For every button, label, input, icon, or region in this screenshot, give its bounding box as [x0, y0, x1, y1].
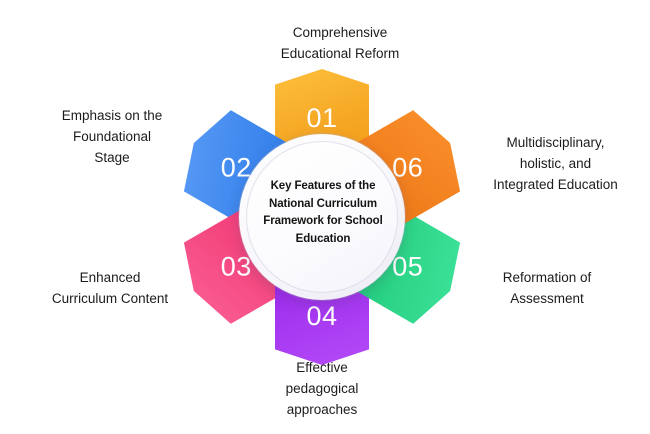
center-title-line-3: Framework for School [252, 213, 394, 231]
label-03-line-2: Curriculum Content [18, 288, 202, 309]
center-title-line-1: Key Features of the [252, 178, 394, 196]
label-petal-02: Emphasis on the Foundational Stage [22, 105, 202, 168]
label-03-line-1: Enhanced [18, 267, 202, 288]
center-title-line-4: Education [252, 231, 394, 249]
label-petal-04: Effective pedagogical approaches [252, 357, 392, 420]
label-04-line-3: approaches [252, 399, 392, 420]
center-hub-title: Key Features of the National Curriculum … [252, 178, 394, 248]
center-title-line-2: National Curriculum [252, 196, 394, 214]
label-01-line-1: Comprehensive [245, 22, 435, 43]
label-02-line-3: Stage [22, 147, 202, 168]
label-02-line-2: Foundational [22, 126, 202, 147]
label-04-line-1: Effective [252, 357, 392, 378]
infographic-canvas: 01 02 03 04 05 06 Key Features of the Na… [0, 0, 650, 434]
label-petal-06: Multidisciplinary, holistic, and Integra… [468, 132, 643, 195]
label-petal-03: Enhanced Curriculum Content [18, 267, 202, 309]
label-petal-01: Comprehensive Educational Reform [245, 22, 435, 64]
label-06-line-3: Integrated Education [468, 174, 643, 195]
label-06-line-2: holistic, and [468, 153, 643, 174]
label-petal-05: Reformation of Assessment [462, 267, 632, 309]
label-02-line-1: Emphasis on the [22, 105, 202, 126]
label-04-line-2: pedagogical [252, 378, 392, 399]
label-05-line-2: Assessment [462, 288, 632, 309]
label-06-line-1: Multidisciplinary, [468, 132, 643, 153]
label-05-line-1: Reformation of [462, 267, 632, 288]
label-01-line-2: Educational Reform [245, 43, 435, 64]
